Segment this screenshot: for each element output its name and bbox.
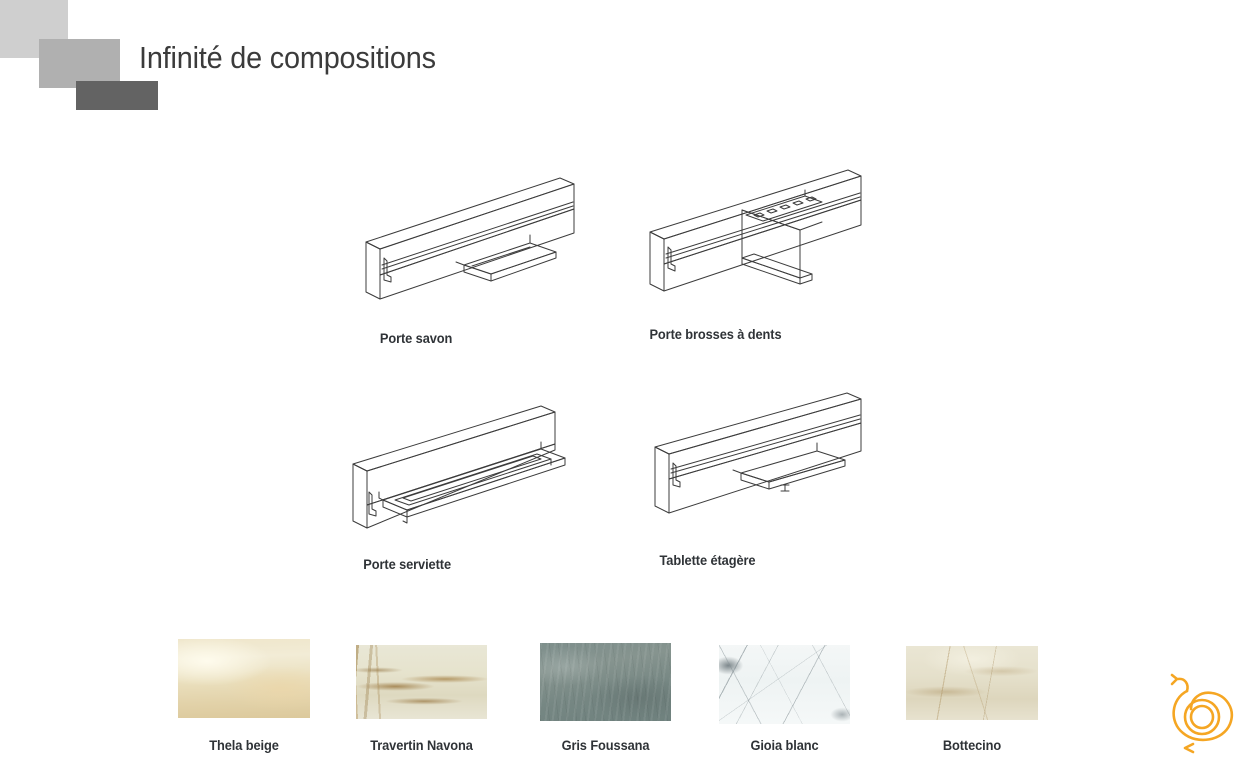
- material-chip[interactable]: [906, 646, 1038, 720]
- toothbrush-holder-icon: [642, 160, 867, 310]
- product-caption: Tablette étagère: [660, 553, 756, 568]
- material-chip[interactable]: [178, 639, 310, 718]
- material-label: Bottecino: [909, 738, 1034, 753]
- product-porte-savon: Porte savon: [360, 165, 580, 310]
- material-chip[interactable]: [356, 645, 487, 719]
- product-tablette-etagere: Tablette étagère: [645, 385, 870, 535]
- product-porte-brosses-a-dents: Porte brosses à dents: [642, 160, 867, 310]
- material-label: Gris Foussana: [543, 738, 667, 753]
- product-caption: Porte brosses à dents: [649, 327, 781, 342]
- slide-canvas: Infinité de compositions: [0, 0, 1235, 758]
- towel-rail-icon: [345, 392, 570, 537]
- soap-dish-icon: [360, 165, 580, 310]
- material-chip[interactable]: [540, 643, 671, 721]
- material-swatch-strip: Thela beige Travertin Navona Gris Foussa…: [0, 630, 1235, 758]
- material-label: Thela beige: [181, 738, 306, 753]
- shelf-icon: [645, 385, 870, 535]
- page-title: Infinité de compositions: [139, 40, 436, 76]
- decor-dark-square: [76, 81, 158, 110]
- product-caption: Porte savon: [380, 331, 452, 346]
- spiral-swirl-logo-icon: [1163, 670, 1235, 754]
- product-caption: Porte serviette: [363, 557, 451, 572]
- product-porte-serviette: Porte serviette: [345, 392, 570, 537]
- material-chip[interactable]: [719, 645, 850, 724]
- material-label: Gioia blanc: [722, 738, 846, 753]
- material-label: Travertin Navona: [359, 738, 483, 753]
